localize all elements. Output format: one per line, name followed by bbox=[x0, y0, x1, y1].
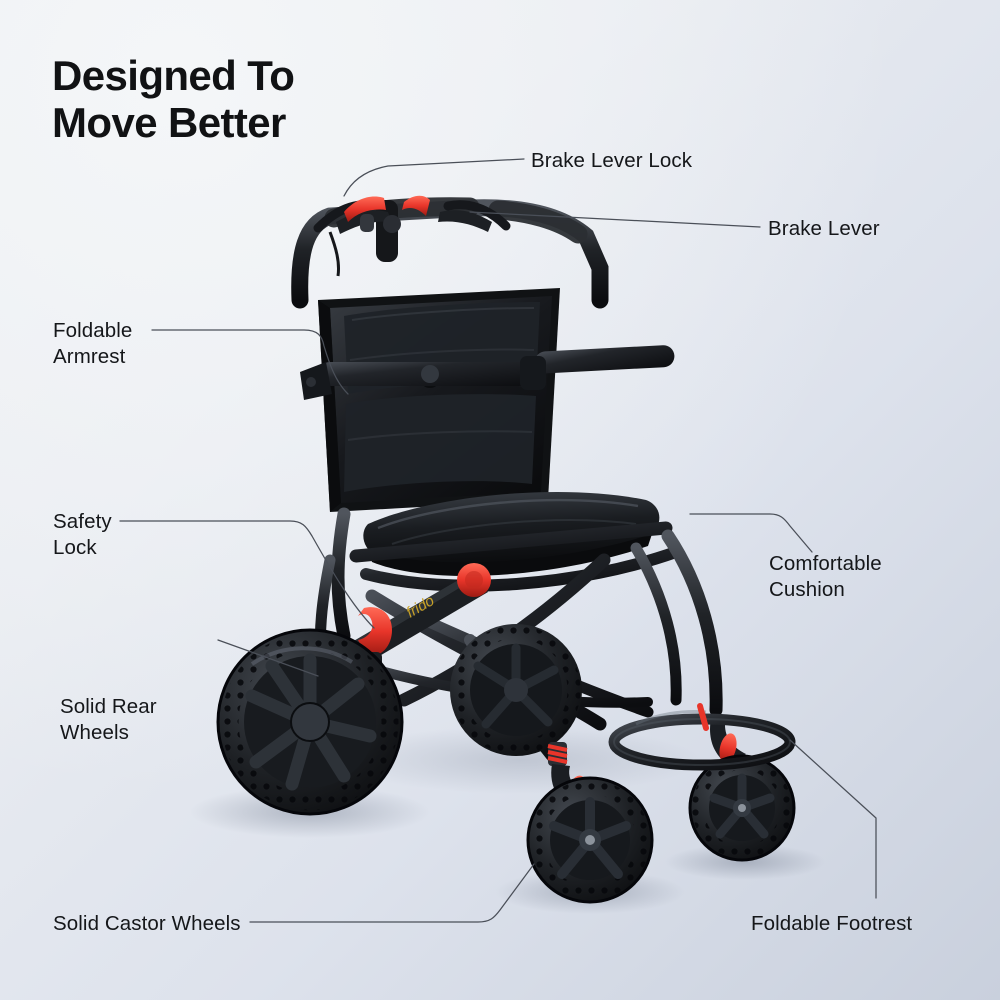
callout-foldable-armrest: Foldable Armrest bbox=[53, 318, 132, 370]
callout-foldable-footrest: Foldable Footrest bbox=[751, 911, 912, 937]
callout-comfortable-cushion: Comfortable Cushion bbox=[769, 551, 882, 603]
callout-solid-castor-wheels: Solid Castor Wheels bbox=[53, 911, 241, 937]
suspension-spring bbox=[548, 742, 567, 766]
callout-solid-rear-wheels: Solid Rear Wheels bbox=[60, 694, 157, 746]
callout-safety-lock: Safety Lock bbox=[53, 509, 112, 561]
product-image-wheelchair: frido bbox=[0, 0, 1000, 1000]
callout-brake-lever: Brake Lever bbox=[768, 216, 880, 242]
callout-brake-lever-lock: Brake Lever Lock bbox=[531, 148, 692, 174]
backrest-cushion bbox=[318, 288, 560, 512]
infographic-canvas: Designed To Move Better bbox=[0, 0, 1000, 1000]
solid-rear-wheel-right bbox=[450, 624, 582, 756]
solid-rear-wheel bbox=[218, 630, 402, 814]
brake-lever-assembly bbox=[318, 196, 506, 276]
